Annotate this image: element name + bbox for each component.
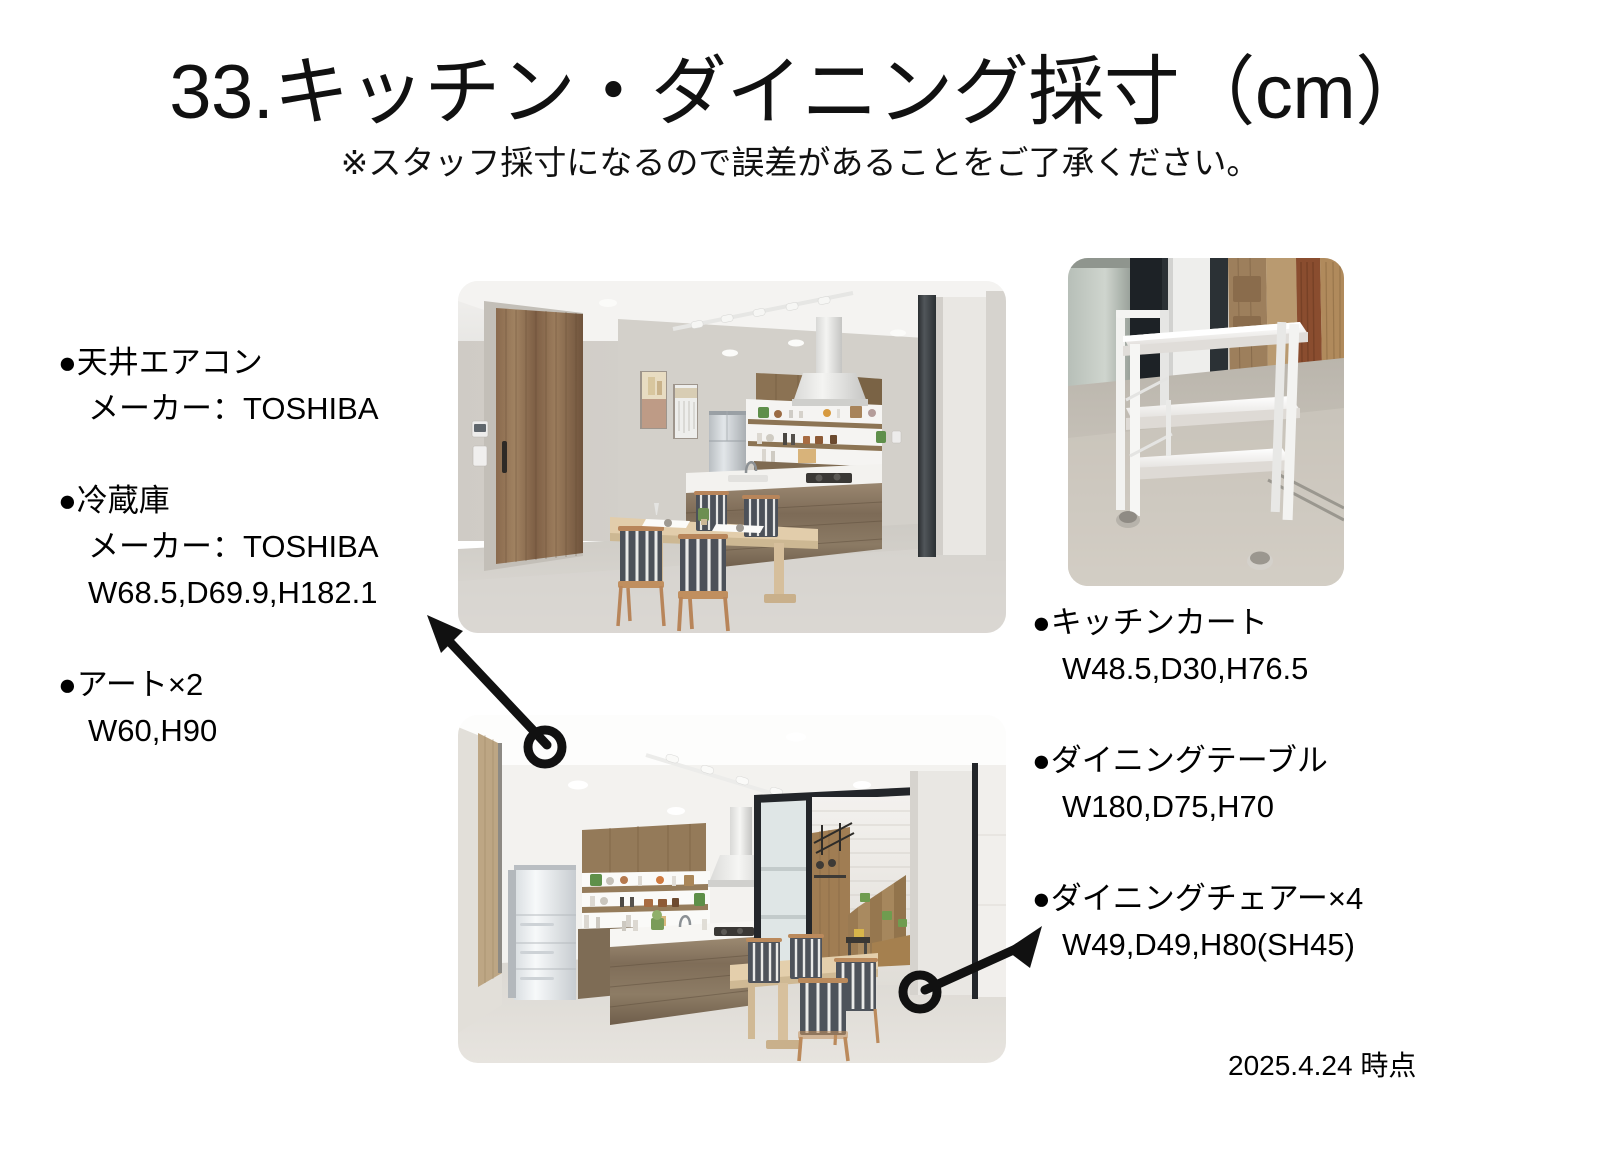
photo-kitchen-dining-wide bbox=[458, 281, 1006, 633]
spec-item-dining-table: ●ダイニングテーブル W180,D75,H70 bbox=[1032, 738, 1363, 830]
spec-list-left: ●天井エアコン メーカー：TOSHIBA ●冷蔵庫 メーカー：TOSHIBA W… bbox=[58, 340, 379, 754]
art-piece-1 bbox=[640, 371, 667, 429]
photo-kitchen-cart-image bbox=[1068, 258, 1344, 586]
spec-heading: ●天井エアコン bbox=[58, 340, 379, 386]
photo-kitchen-dining-bright-image bbox=[458, 715, 1006, 1063]
spec-heading: ●ダイニングチェアー×4 bbox=[1032, 876, 1363, 922]
door-handle-icon bbox=[502, 441, 507, 473]
spec-detail: メーカー：TOSHIBA bbox=[58, 386, 379, 432]
spec-detail: W68.5,D69.9,H182.1 bbox=[58, 570, 379, 616]
spec-detail: W180,D75,H70 bbox=[1032, 784, 1363, 830]
spec-item-art: ●アート×2 W60,H90 bbox=[58, 662, 379, 754]
spec-detail: W49,D49,H80(SH45) bbox=[1032, 922, 1363, 968]
spec-detail: W60,H90 bbox=[58, 708, 379, 754]
spec-item-kitchen-cart: ●キッチンカート W48.5,D30,H76.5 bbox=[1032, 600, 1363, 692]
refrigerator bbox=[709, 411, 746, 479]
spec-heading: ●キッチンカート bbox=[1032, 600, 1363, 646]
spec-detail: W48.5,D30,H76.5 bbox=[1032, 646, 1363, 692]
spec-item-refrigerator: ●冷蔵庫 メーカー：TOSHIBA W68.5,D69.9,H182.1 bbox=[58, 478, 379, 616]
refrigerator bbox=[508, 865, 576, 1000]
page-title: 33.キッチン・ダイニング採寸（cm） bbox=[0, 55, 1600, 131]
spec-list-right: ●キッチンカート W48.5,D30,H76.5 ●ダイニングテーブル W180… bbox=[1032, 600, 1363, 968]
spec-heading: ●冷蔵庫 bbox=[58, 478, 379, 524]
art-piece-2 bbox=[673, 384, 698, 439]
spec-heading: ●ダイニングテーブル bbox=[1032, 738, 1363, 784]
photo-kitchen-dining-wide-image bbox=[458, 281, 1006, 633]
spec-heading: ●アート×2 bbox=[58, 662, 379, 708]
page-subtitle-note: ※スタッフ採寸になるので誤差があることをご了承ください。 bbox=[0, 146, 1600, 179]
spec-item-dining-chair: ●ダイニングチェアー×4 W49,D49,H80(SH45) bbox=[1032, 876, 1363, 968]
spec-detail: メーカー：TOSHIBA bbox=[58, 524, 379, 570]
spec-item-ceiling-air-conditioner: ●天井エアコン メーカー：TOSHIBA bbox=[58, 340, 379, 432]
photo-kitchen-cart bbox=[1068, 258, 1344, 586]
date-footer: 2025.4.24 時点 bbox=[1228, 1052, 1416, 1080]
photo-kitchen-dining-bright bbox=[458, 715, 1006, 1063]
